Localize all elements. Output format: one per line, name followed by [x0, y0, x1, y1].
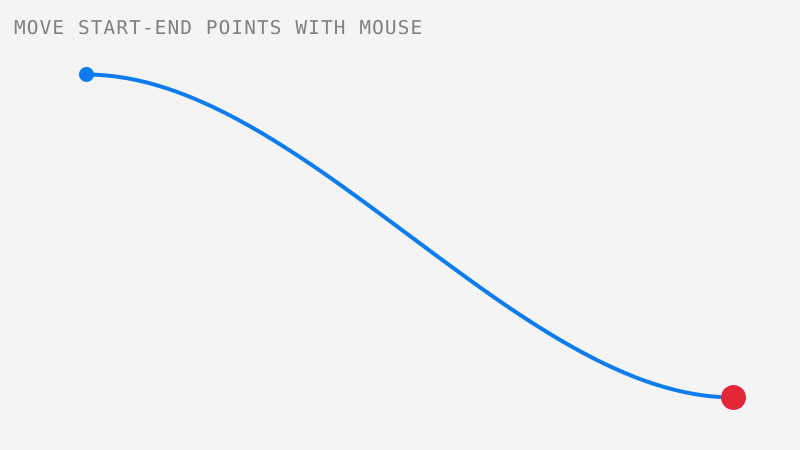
end-point-handle[interactable] — [721, 385, 746, 410]
canvas-stage: MOVE START-END POINTS WITH MOUSE — [0, 0, 800, 450]
bezier-curve-path — [87, 75, 734, 398]
bezier-curve-canvas[interactable] — [0, 0, 800, 450]
start-point-handle[interactable] — [79, 67, 94, 82]
